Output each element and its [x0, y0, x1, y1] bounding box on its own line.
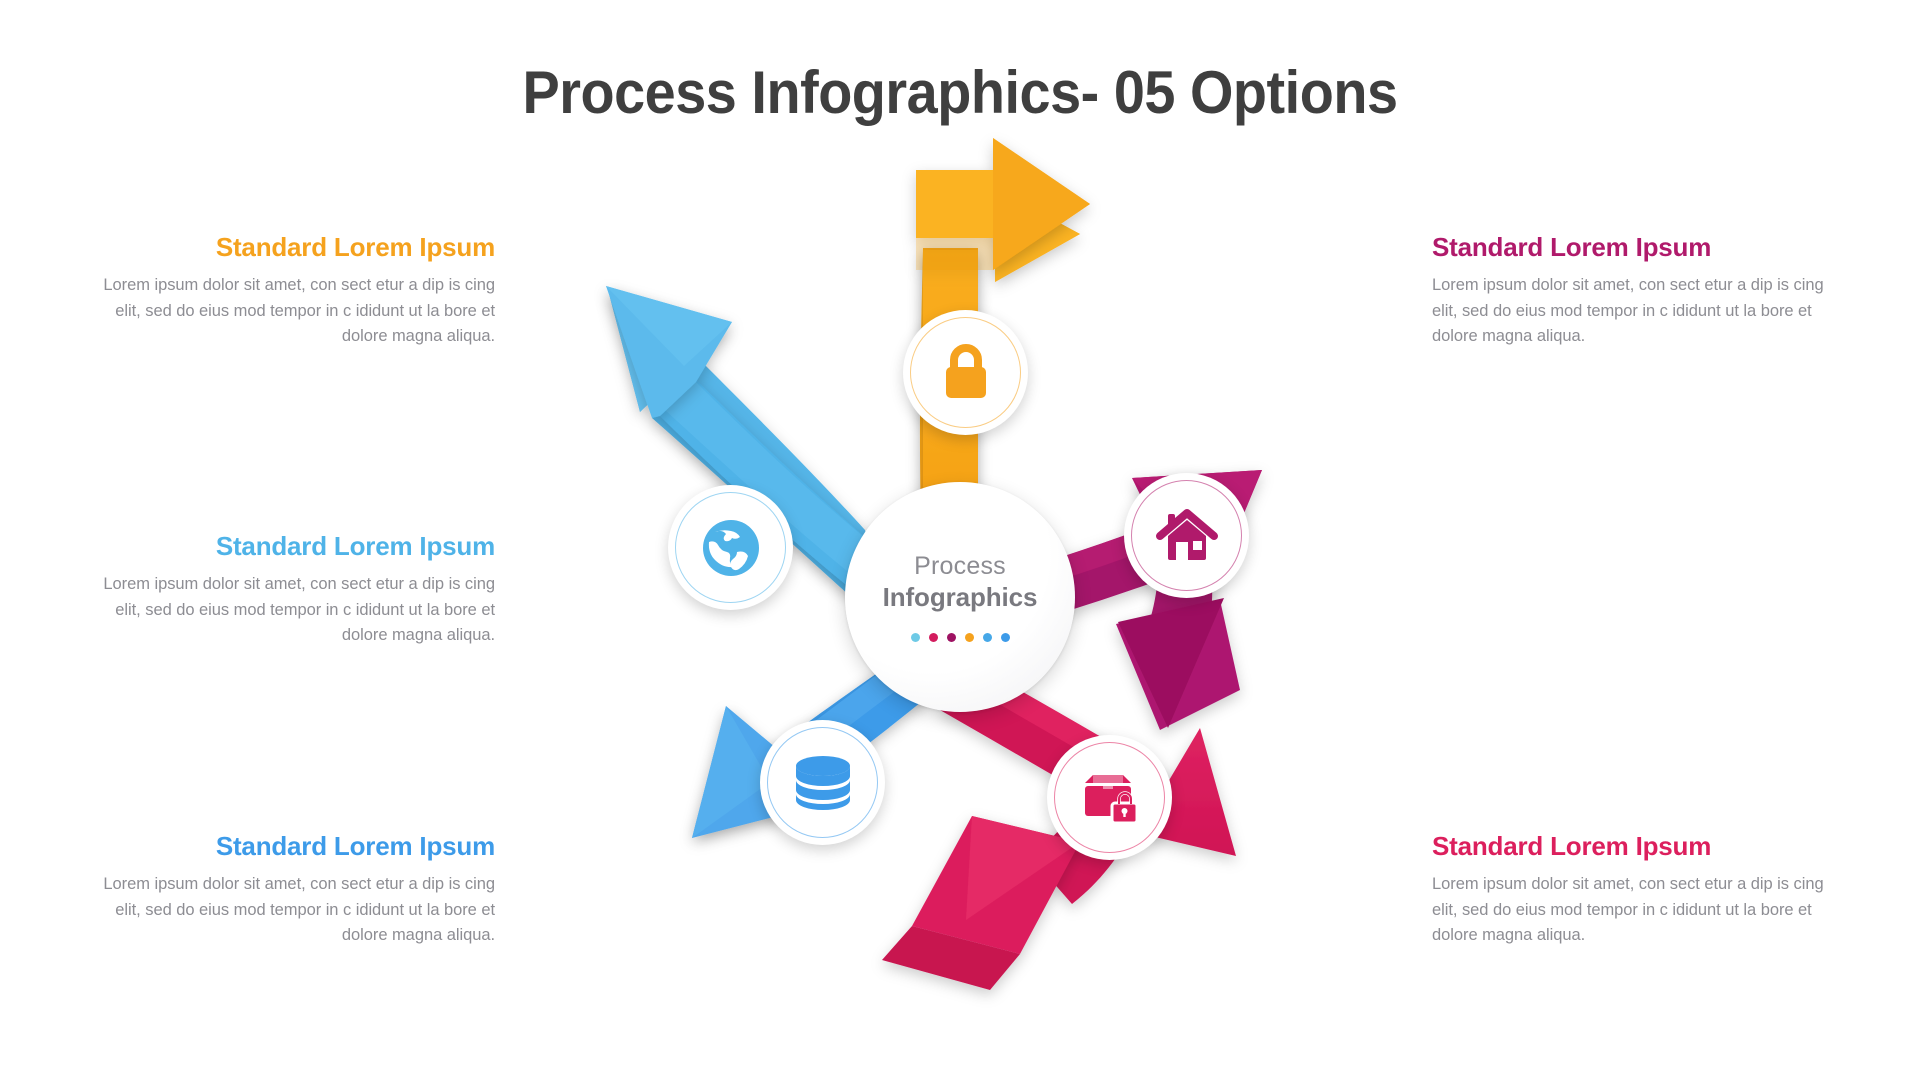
- hub-dot-2: [929, 633, 938, 642]
- option-block-left-3: Standard Lorem Ipsum Lorem ipsum dolor s…: [85, 831, 495, 949]
- hub-dot-1: [911, 633, 920, 642]
- page-title: Process Infographics- 05 Options: [67, 58, 1853, 127]
- option-heading: Standard Lorem Ipsum: [85, 831, 495, 862]
- globe-icon-badge[interactable]: [668, 485, 793, 610]
- arrow-orange-head: [916, 138, 1090, 270]
- option-heading: Standard Lorem Ipsum: [1432, 831, 1842, 862]
- arrow-crimson-head: [882, 816, 1080, 990]
- hub-dot-6: [1001, 633, 1010, 642]
- hub-line-1: Process: [914, 552, 1006, 581]
- briefcase-lock-icon: [1079, 770, 1141, 826]
- option-block-right-2: Standard Lorem Ipsum Lorem ipsum dolor s…: [1432, 831, 1842, 949]
- option-block-right-1: Standard Lorem Ipsum Lorem ipsum dolor s…: [1432, 232, 1842, 350]
- briefcase-lock-icon-badge[interactable]: [1047, 735, 1172, 860]
- option-heading: Standard Lorem Ipsum: [85, 232, 495, 263]
- hub-dot-4: [965, 633, 974, 642]
- hub-dot-3: [947, 633, 956, 642]
- home-icon-badge[interactable]: [1124, 473, 1249, 598]
- option-body: Lorem ipsum dolor sit amet, con sect etu…: [1432, 872, 1842, 949]
- globe-icon: [701, 518, 761, 578]
- database-icon: [792, 754, 854, 812]
- hub-line-2: Infographics: [883, 583, 1038, 613]
- option-body: Lorem ipsum dolor sit amet, con sect etu…: [85, 273, 495, 350]
- hub-dot-5: [983, 633, 992, 642]
- option-body: Lorem ipsum dolor sit amet, con sect etu…: [85, 872, 495, 949]
- arrow-magenta-head: [1116, 598, 1240, 730]
- lock-icon-badge[interactable]: [903, 310, 1028, 435]
- option-heading: Standard Lorem Ipsum: [85, 531, 495, 562]
- database-icon-badge[interactable]: [760, 720, 885, 845]
- hub-dot-row: [911, 633, 1010, 642]
- option-body: Lorem ipsum dolor sit amet, con sect etu…: [85, 572, 495, 649]
- option-heading: Standard Lorem Ipsum: [1432, 232, 1842, 263]
- home-icon: [1156, 508, 1218, 564]
- option-body: Lorem ipsum dolor sit amet, con sect etu…: [1432, 273, 1842, 350]
- infographic-canvas: Process Infographics- 05 Options: [0, 0, 1920, 1080]
- lock-icon: [938, 342, 994, 404]
- center-hub: Process Infographics: [845, 482, 1075, 712]
- option-block-left-1: Standard Lorem Ipsum Lorem ipsum dolor s…: [85, 232, 495, 350]
- option-block-left-2: Standard Lorem Ipsum Lorem ipsum dolor s…: [85, 531, 495, 649]
